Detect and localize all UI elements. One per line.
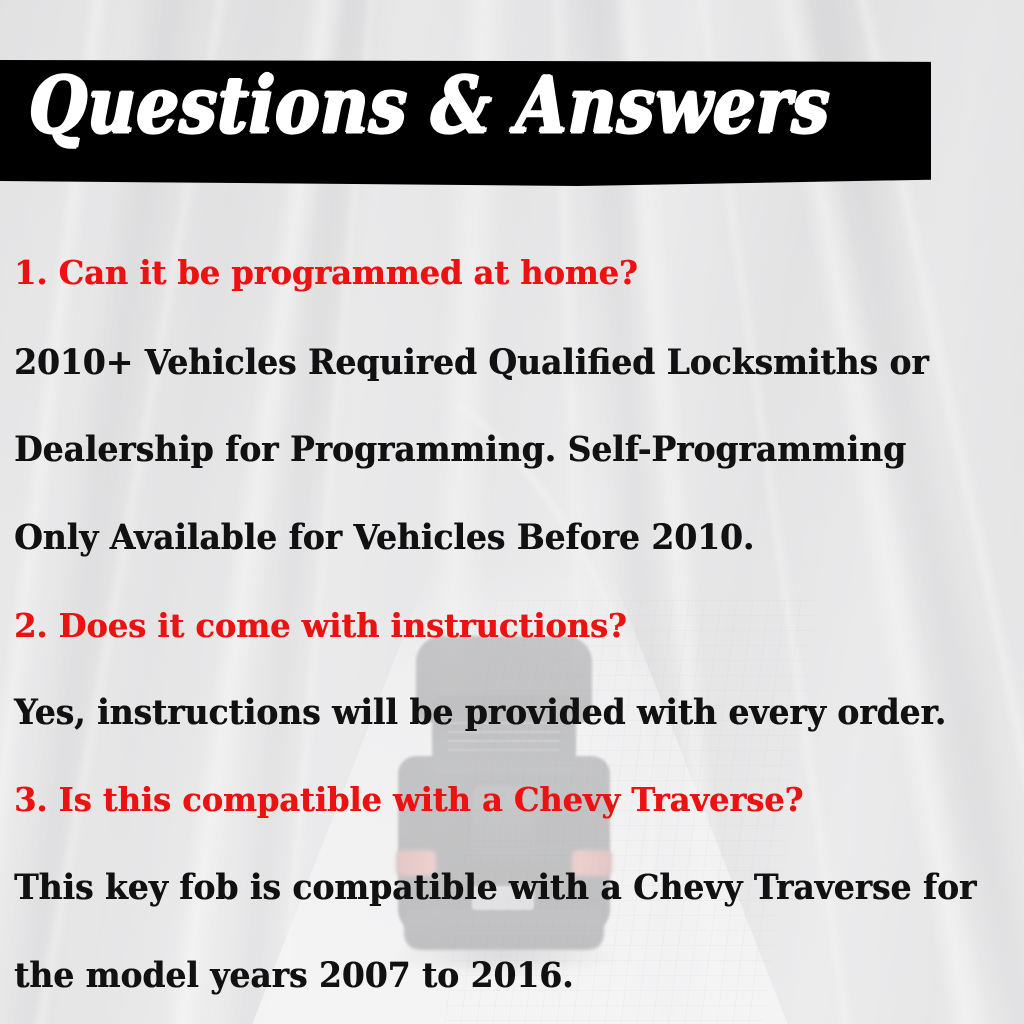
faq-question-2: 2. Does it come with instructions? [14, 609, 627, 642]
faq-answer-3-line-1: This key fob is compatible with a Chevy … [14, 870, 976, 905]
faq-answer-1-line-3: Only Available for Vehicles Before 2010. [14, 520, 754, 555]
faq-answer-3-line-2: the model years 2007 to 2016. [14, 958, 573, 993]
faq-graphic: Questions & Answers 1. Can it be program… [0, 0, 1024, 1024]
faq-answer-2-line-1: Yes, instructions will be provided with … [14, 695, 946, 730]
page-title: Questions & Answers [28, 66, 910, 144]
faq-question-3: 3. Is this compatible with a Chevy Trave… [14, 783, 803, 816]
faq-answer-1-line-1: 2010+ Vehicles Required Qualified Locksm… [14, 345, 929, 380]
faq-answer-1-line-2: Dealership for Programming. Self-Program… [14, 432, 906, 467]
faq-question-1: 1. Can it be programmed at home? [14, 256, 638, 289]
